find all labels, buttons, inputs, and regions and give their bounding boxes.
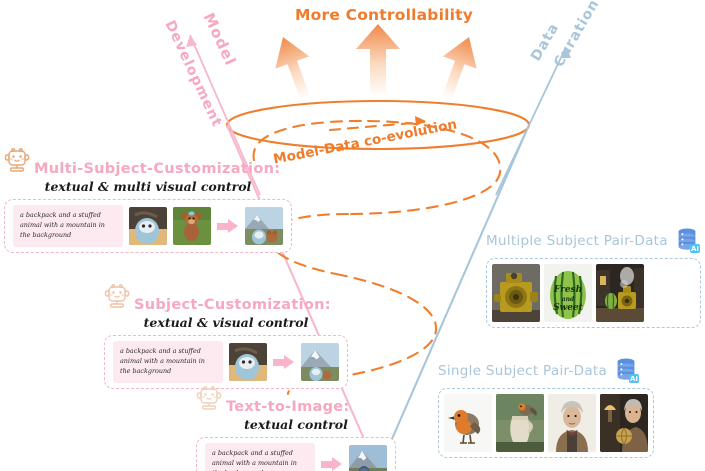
prompt-text: a backpack and a stuffed animal with a m… [13,205,123,247]
panel-subtitle: textual control [196,417,396,432]
panel-title: Subject-Customization: [134,298,331,313]
upward-arrow-center [356,24,400,96]
axis-label-model-development-line2: Model [200,10,240,69]
upward-arrow-left [266,31,322,105]
panel-example-row: a backpack and a stuffed animal with a m… [104,335,348,389]
robot-icon [4,148,30,176]
panel-thumbnail-row: Fresh and Sweet [486,258,701,328]
panel-subtitle: textual & visual control [104,315,348,330]
arrow-right-icon [273,355,295,369]
robot-icon [196,386,222,414]
panel-header: Text-to-Image: [196,386,396,414]
thumbnail-elderly-woman-portrait [548,394,596,452]
panel-header: Single Subject Pair-Data [438,358,654,384]
panel-subtitle: textual & multi visual control [4,179,292,194]
arrow-right-icon [217,219,239,233]
svg-text:Fresh: Fresh [553,285,582,295]
thumbnail-robin-bird [444,394,492,452]
diagram-canvas: More Controllability Development Model D… [0,0,705,471]
input-thumbnail-teddy-bear [173,207,211,245]
panel-header: Subject-Customization: [104,284,348,312]
svg-text:Sweet: Sweet [553,303,584,313]
upward-arrow-right [429,31,485,105]
panel-header: Multiple Subject Pair-Data [486,228,701,254]
prompt-text: a backpack and a stuffed animal with a m… [205,443,315,471]
panel-text-to-image: Text-to-Image: textual control a backpac… [196,386,396,471]
input-thumbnail-backpack [129,207,167,245]
data-curation-axis-arrow [496,47,571,195]
panel-multiple-subject-pair-data: Multiple Subject Pair-Data [486,228,701,328]
panel-example-row: a backpack and a stuffed animal with a m… [4,199,292,253]
thumbnail-steam-machine-watermelon-scene [596,264,644,322]
thumbnail-robin-on-pitcher [496,394,544,452]
robot-icon [104,284,130,312]
panel-header: Multi-Subject-Customization: [4,148,292,176]
panel-title: Text-to-Image: [226,400,350,415]
axis-label-data-curation-line2: Curation [551,0,603,70]
panel-multi-subject-customization: Multi-Subject-Customization: textual & m… [4,148,292,253]
database-ai-icon: AI [614,358,640,384]
svg-text:AI: AI [630,375,638,383]
panel-title: Single Subject Pair-Data [438,363,607,379]
panel-subject-customization: Subject-Customization: textual & visual … [104,284,348,389]
panel-title: Multi-Subject-Customization: [34,162,280,177]
input-thumbnail-backpack [229,343,267,381]
svg-text:and: and [562,296,575,303]
coevolution-label: Model-Data co-evolution [272,116,458,167]
svg-text:AI: AI [691,245,699,253]
arrow-right-icon [321,457,343,471]
output-thumbnail-backpack-fox-mountain [349,445,387,471]
database-ai-icon: AI [675,228,701,254]
thumbnail-woman-holding-globe [600,394,648,452]
output-thumbnail-backpack-mountain [301,343,339,381]
page-title: More Controllability [295,6,473,24]
panel-title: Multiple Subject Pair-Data [486,233,668,249]
thumbnail-watermelon-fresh-and-sweet: Fresh and Sweet [544,264,592,322]
thumbnail-yellow-camera-machine [492,264,540,322]
output-thumbnail-backpack-bear-mountain [245,207,283,245]
panel-example-row: a backpack and a stuffed animal with a m… [196,437,396,471]
prompt-text: a backpack and a stuffed animal with a m… [113,341,223,383]
panel-thumbnail-row [438,388,654,458]
panel-single-subject-pair-data: Single Subject Pair-Data [438,358,654,458]
